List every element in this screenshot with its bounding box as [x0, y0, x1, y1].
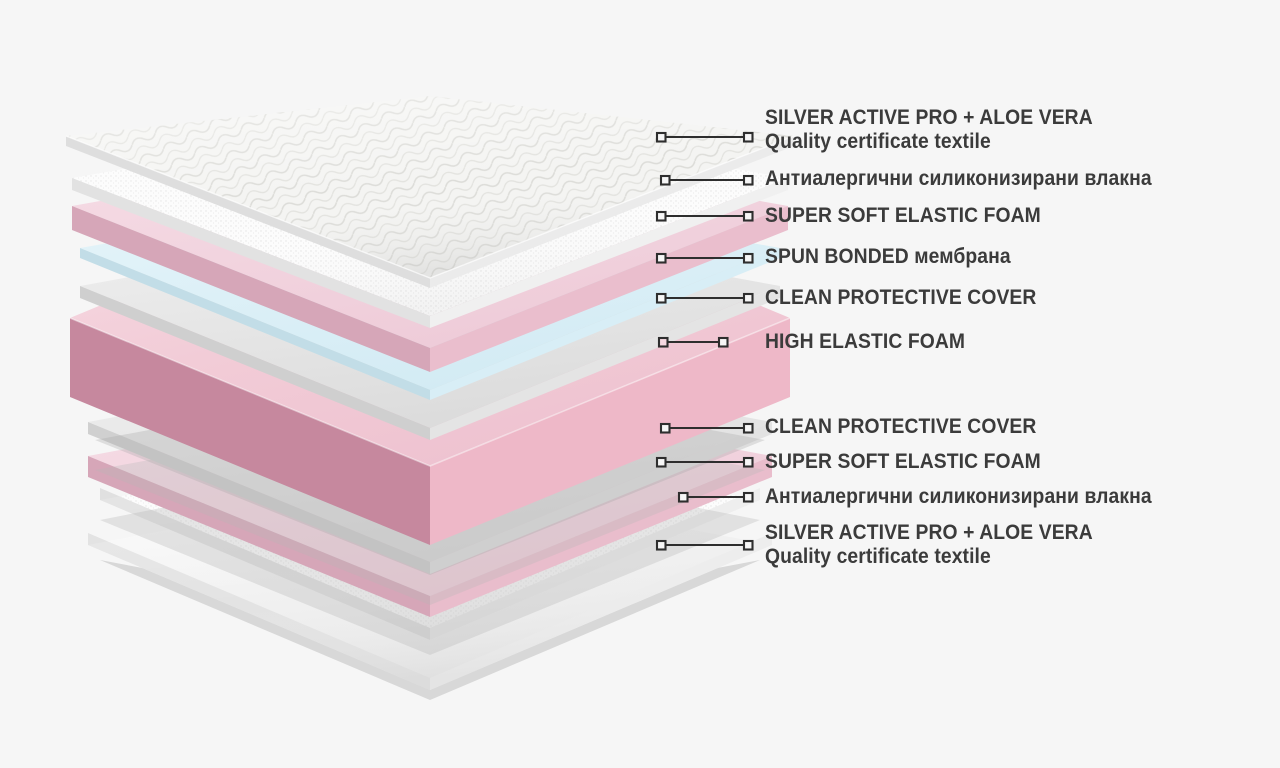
label-bottom-fiber: Антиалергични силиконизирани влакна	[765, 485, 1152, 509]
label-high-elastic-foam: HIGH ELASTIC FOAM	[765, 330, 965, 354]
label-top-quilt: SILVER ACTIVE PRO + ALOE VERA Quality ce…	[765, 106, 1093, 153]
label-top-quilt-line2: Quality certificate textile	[765, 130, 1093, 154]
label-clean-cover-bottom: CLEAN PROTECTIVE COVER	[765, 415, 1036, 439]
label-top-soft-foam: SUPER SOFT ELASTIC FOAM	[765, 204, 1041, 228]
label-top-quilt-line1: SILVER ACTIVE PRO + ALOE VERA	[765, 106, 1093, 129]
label-spun-bonded: SPUN BONDED мембрана	[765, 245, 1011, 269]
diagram-stage: SILVER ACTIVE PRO + ALOE VERA Quality ce…	[0, 0, 1280, 768]
label-bottom-textile-line2: Quality certificate textile	[765, 545, 1093, 569]
label-bottom-soft-foam: SUPER SOFT ELASTIC FOAM	[765, 450, 1041, 474]
label-bottom-textile: SILVER ACTIVE PRO + ALOE VERA Quality ce…	[765, 521, 1093, 568]
layer-labels: SILVER ACTIVE PRO + ALOE VERA Quality ce…	[0, 0, 1280, 768]
label-bottom-textile-line1: SILVER ACTIVE PRO + ALOE VERA	[765, 521, 1093, 544]
label-clean-cover-top: CLEAN PROTECTIVE COVER	[765, 286, 1036, 310]
label-top-fiber: Антиалергични силиконизирани влакна	[765, 167, 1152, 191]
